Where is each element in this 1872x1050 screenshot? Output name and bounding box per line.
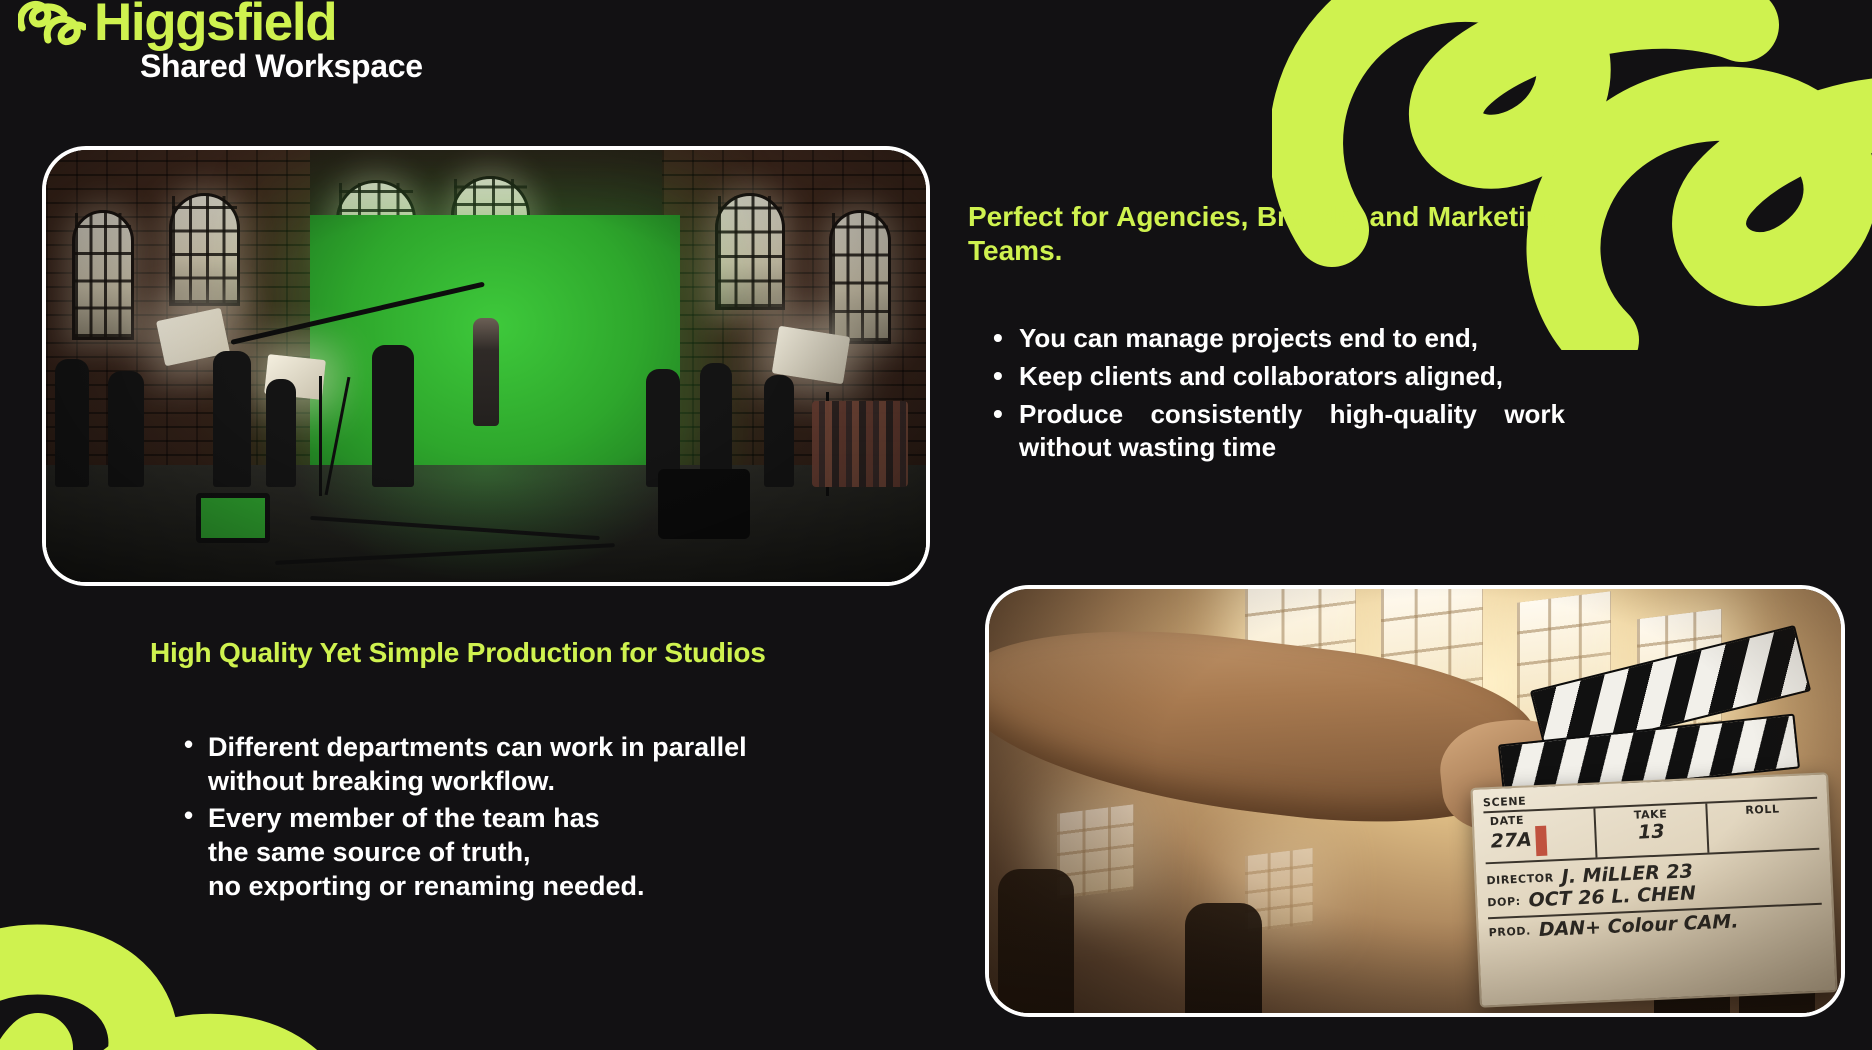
list-item: Different departments can work in parall… [178, 730, 878, 799]
list-item-line: Every member of the team has [208, 801, 878, 835]
list-item-line: no exporting or renaming needed. [208, 869, 878, 903]
list-item-line: Different departments can work in parall… [208, 730, 878, 764]
list-item-line: the same source of truth, [208, 835, 878, 869]
list-item-line: without breaking workflow. [208, 764, 878, 798]
brand-lockup: Higgsfield [18, 0, 336, 50]
slide-canvas: Higgsfield Shared Workspace [0, 0, 1872, 1050]
list-item: Every member of the team has the same so… [178, 801, 878, 904]
left-column-heading: High Quality Yet Simple Production for S… [150, 637, 910, 669]
clapperboard-image: SCENE DATE 27A TAKE 13 ROLL [985, 585, 1845, 1017]
swirl-decoration-top-right [1272, 0, 1872, 350]
right-column-heading: Perfect for Agencies, Brands, and Market… [968, 200, 1560, 268]
page-subtitle: Shared Workspace [140, 48, 423, 85]
higgsfield-swirl-icon [18, 0, 86, 50]
right-column-bullet-list: You can manage projects end to end, Keep… [985, 322, 1565, 469]
brand-name: Higgsfield [94, 0, 336, 49]
list-item: Keep clients and collaborators aligned, [985, 360, 1565, 394]
list-item: Produce consistently high-quality work w… [985, 398, 1565, 466]
list-item: You can manage projects end to end, [985, 322, 1565, 356]
left-column-bullet-list: Different departments can work in parall… [178, 730, 878, 905]
studio-production-image [42, 146, 930, 586]
